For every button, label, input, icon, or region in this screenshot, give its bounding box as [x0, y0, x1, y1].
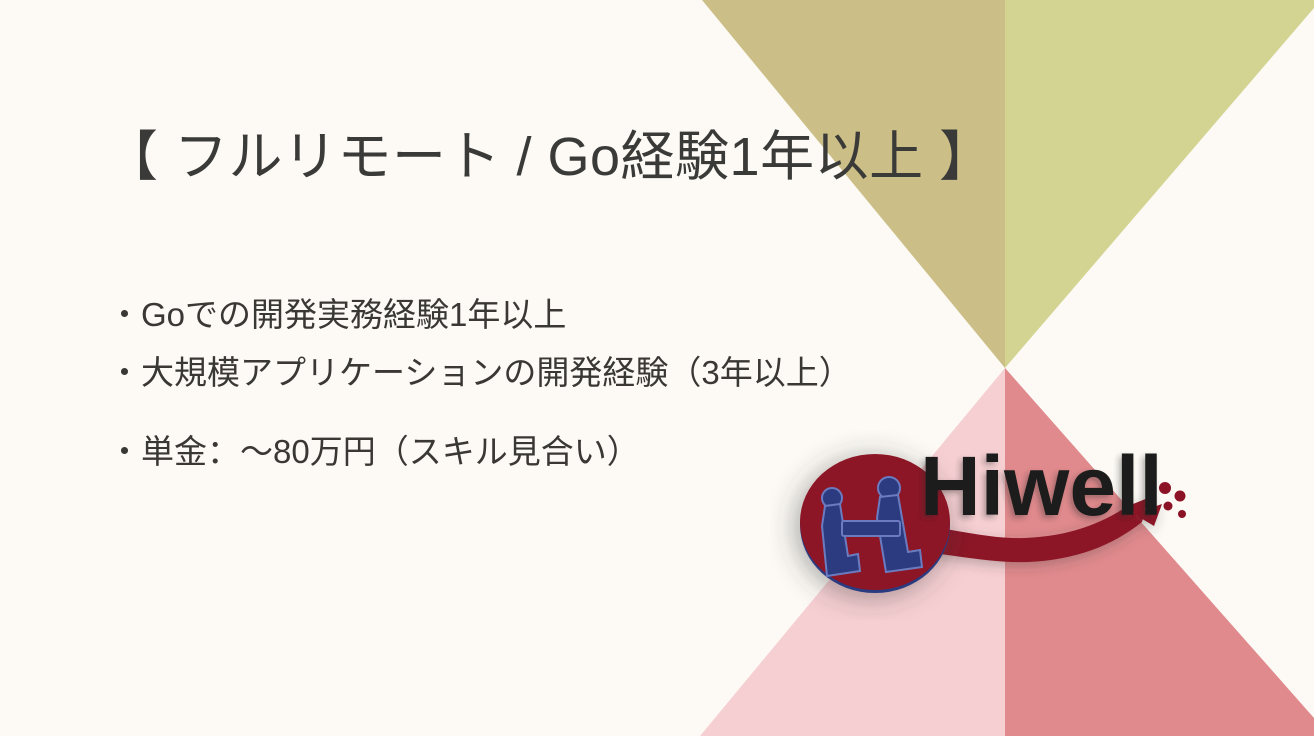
list-item: ・Goでの開発実務経験1年以上	[108, 298, 868, 331]
page-title: 【 フルリモート / Go経験1年以上 】	[104, 126, 994, 188]
logo-dots	[1159, 482, 1186, 518]
hiwell-logo-icon: Hiwell	[770, 430, 1190, 620]
bullet-list: ・Goでの開発実務経験1年以上 ・大規模アプリケーションの開発経験（3年以上） …	[108, 298, 868, 468]
logo-wordmark: Hiwell	[920, 439, 1163, 533]
hiwell-logo: Hiwell	[770, 430, 1190, 620]
triangle-top-right-green	[1005, 0, 1314, 368]
list-item: ・大規模アプリケーションの開発経験（3年以上）	[108, 356, 868, 389]
slide-canvas: 【 フルリモート / Go経験1年以上 】 ・Goでの開発実務経験1年以上 ・大…	[0, 0, 1314, 736]
list-item: ・単金：〜80万円（スキル見合い）	[108, 435, 868, 468]
